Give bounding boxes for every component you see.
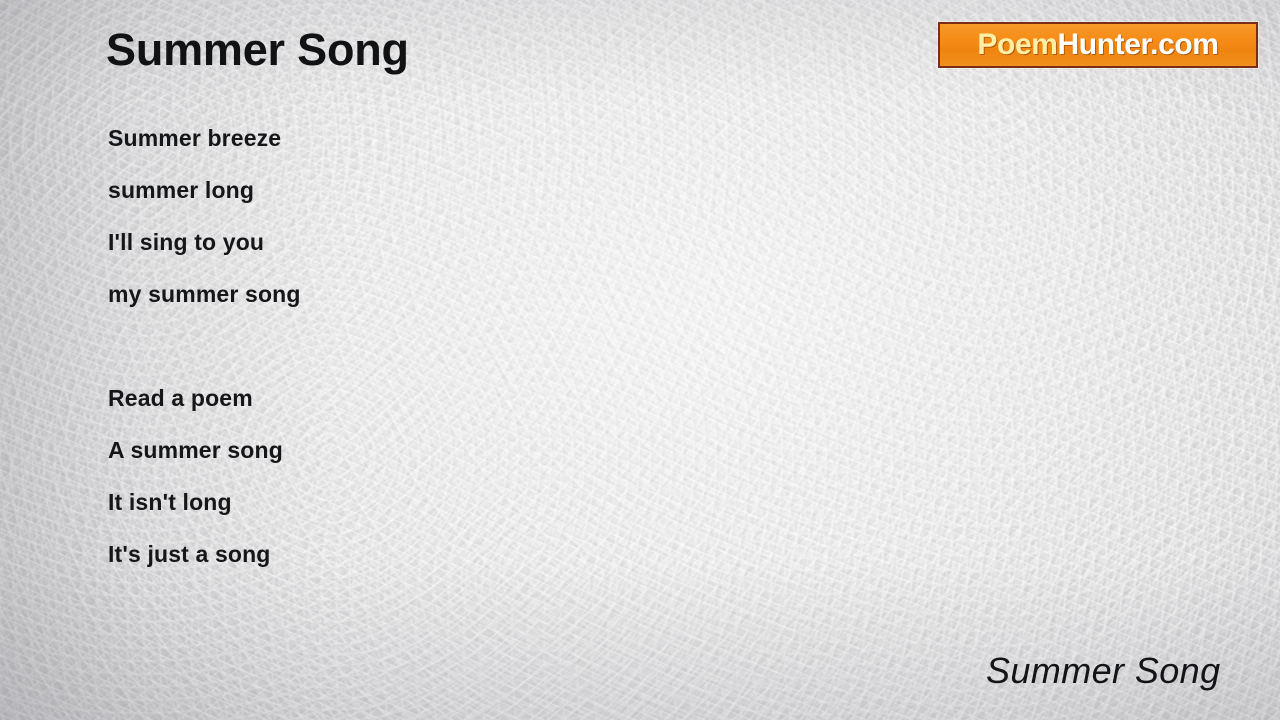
poem-line: I'll sing to you: [108, 216, 868, 268]
poem-line: my summer song: [108, 268, 868, 320]
slide-canvas: Summer Song Summer breeze summer long I'…: [0, 0, 1280, 720]
poemhunter-logo-text: PoemHunter.com: [977, 30, 1218, 60]
poemhunter-logo[interactable]: PoemHunter.com: [938, 22, 1258, 68]
poem-line: Read a poem: [108, 372, 868, 424]
poem-body: Summer breeze summer long I'll sing to y…: [108, 112, 868, 580]
poem-line: Summer breeze: [108, 112, 868, 164]
logo-text-hunter: Hunter.com: [1058, 28, 1219, 61]
poem-line: summer long: [108, 164, 868, 216]
poem-line: It's just a song: [108, 528, 868, 580]
slide-content: Summer Song Summer breeze summer long I'…: [0, 0, 1280, 720]
poem-stanza-break: [108, 320, 868, 372]
watermark-title: Summer Song: [986, 650, 1221, 692]
poem-line: It isn't long: [108, 476, 868, 528]
page-title: Summer Song: [106, 26, 409, 75]
logo-text-poem: Poem: [977, 28, 1057, 61]
poem-line: A summer song: [108, 424, 868, 476]
